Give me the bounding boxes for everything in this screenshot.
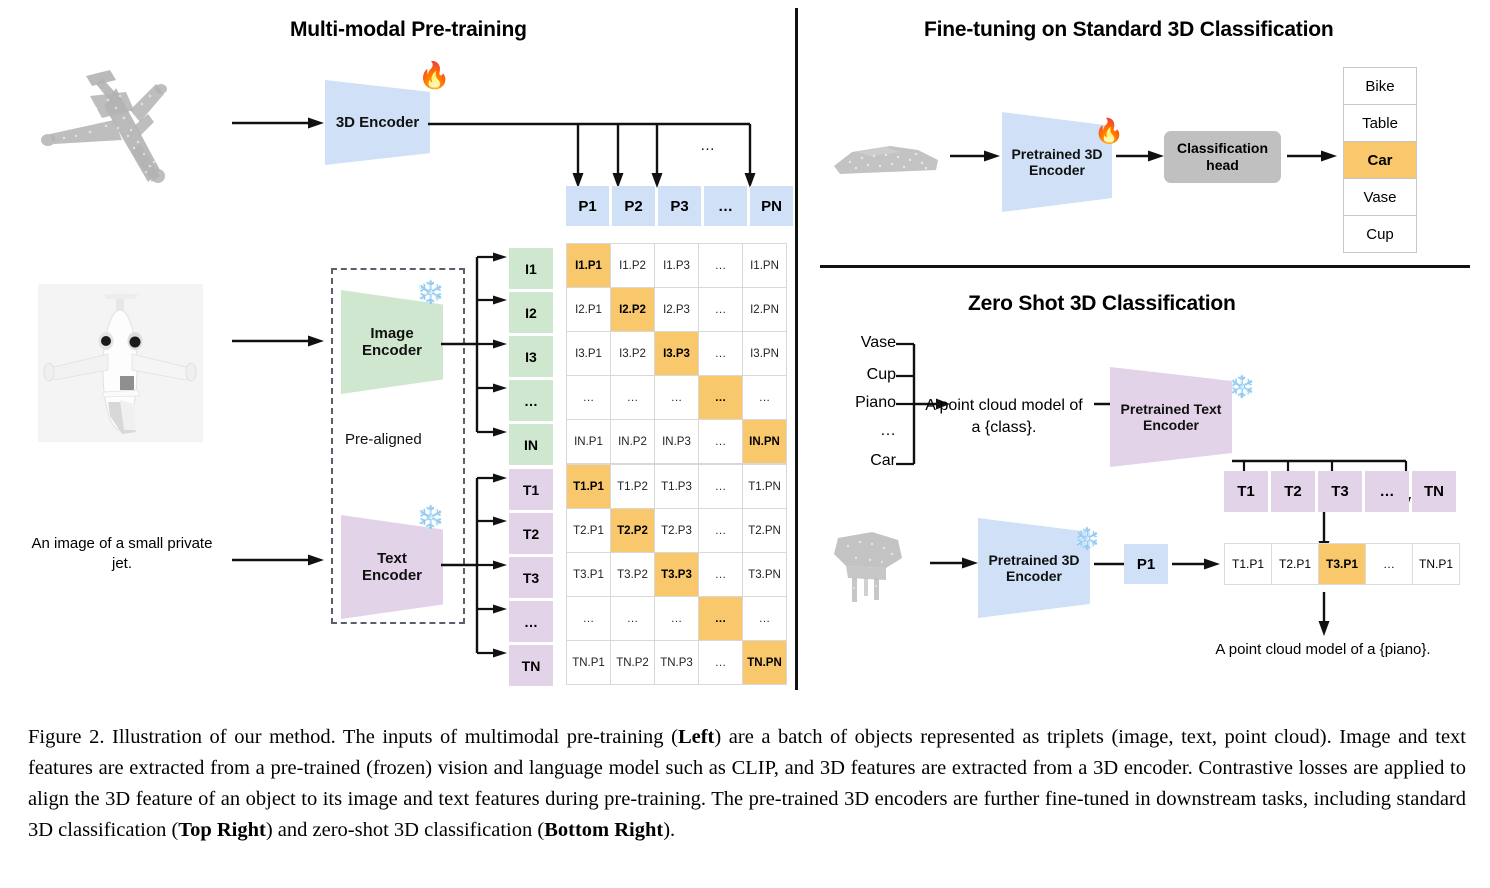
point-feature-cell: P1 bbox=[566, 186, 609, 226]
zeroshot-encoder-l1: Pretrained 3D bbox=[988, 552, 1079, 568]
fanout-textencoder-to-text-features bbox=[441, 473, 509, 658]
image-encoder-label-l1: Image bbox=[370, 325, 413, 342]
classification-head-block: Classification head bbox=[1164, 131, 1281, 183]
zeroshot-text-feature-cell: T1 bbox=[1224, 471, 1268, 512]
matrix-cell: I2.PN bbox=[743, 288, 786, 331]
matrix-cell: TN.PN bbox=[743, 641, 786, 684]
zeroshot-prompt-l2: a {class}. bbox=[972, 419, 1037, 436]
matrix-cell: I2.P3 bbox=[655, 288, 698, 331]
matrix-cell: … bbox=[743, 376, 786, 419]
arrow-p1-to-scores bbox=[1172, 556, 1220, 572]
snowflake-icon-textencoder-zeroshot: ❄️ bbox=[1228, 376, 1255, 398]
arrow-image-to-imageencoder bbox=[232, 333, 324, 349]
horizontal-divider bbox=[820, 265, 1470, 268]
zeroshot-text-feature-cell: TN bbox=[1412, 471, 1456, 512]
input-text-caption: An image of a small private jet. bbox=[28, 534, 216, 575]
matrix-cell: … bbox=[699, 376, 742, 419]
class-list-item[interactable]: Bike bbox=[1344, 68, 1416, 105]
image-point-similarity-matrix: I1.P1I1.P2I1.P3…I1.PNI2.P1I2.P2I2.P3…I2.… bbox=[566, 243, 787, 464]
caption-bold-topright: Top Right bbox=[178, 819, 266, 841]
matrix-cell: TN.P2 bbox=[611, 641, 654, 684]
zeroshot-encoder-l2: Encoder bbox=[1006, 568, 1062, 584]
feature-cell: I2 bbox=[509, 292, 553, 333]
zeroshot-text-feature-cell: … bbox=[1365, 471, 1409, 512]
matrix-cell: I1.P1 bbox=[567, 244, 610, 287]
matrix-cell: … bbox=[699, 332, 742, 375]
zeroshot-text-feature-row: T1T2T3…TN bbox=[1224, 471, 1456, 512]
feature-cell: T3 bbox=[509, 557, 553, 598]
matrix-cell: I3.P1 bbox=[567, 332, 610, 375]
topright-encoder-label: Pretrained 3D Encoder bbox=[1011, 146, 1102, 178]
feature-cell: T2 bbox=[509, 513, 553, 554]
zeroshot-class-name: Cup bbox=[826, 366, 896, 384]
matrix-cell: I2.P2 bbox=[611, 288, 654, 331]
point-feature-cell: PN bbox=[750, 186, 793, 226]
left-panel-title: Multi-modal Pre-training bbox=[290, 18, 527, 42]
text-point-similarity-matrix: T1.P1T1.P2T1.P3…T1.PNT2.P1T2.P2T2.P3…T2.… bbox=[566, 464, 787, 685]
arrow-scores-to-result bbox=[1316, 592, 1332, 636]
matrix-cell: … bbox=[699, 288, 742, 331]
text-encoder-label-l1: Text bbox=[377, 550, 407, 567]
bottomright-panel-title: Zero Shot 3D Classification bbox=[968, 292, 1236, 316]
zeroshot-score-cell: T3.P1 bbox=[1319, 544, 1365, 584]
matrix-cell: I1.P3 bbox=[655, 244, 698, 287]
text-encoder-label-l2: Encoder bbox=[362, 567, 422, 584]
matrix-cell: IN.PN bbox=[743, 420, 786, 463]
pretrained-text-encoder-label: Pretrained Text Encoder bbox=[1121, 401, 1222, 433]
matrix-cell: I3.P3 bbox=[655, 332, 698, 375]
classification-head-l1: Classification bbox=[1177, 140, 1268, 156]
matrix-cell: T2.P2 bbox=[611, 509, 654, 552]
encoder-3d-block: 3D Encoder bbox=[325, 80, 430, 165]
pretrained-text-encoder-block: Pretrained Text Encoder bbox=[1110, 367, 1232, 467]
feature-cell: IN bbox=[509, 424, 553, 465]
matrix-cell: … bbox=[655, 376, 698, 419]
matrix-cell: IN.P2 bbox=[611, 420, 654, 463]
matrix-cell: I3.PN bbox=[743, 332, 786, 375]
input-text-caption-value: An image of a small private jet. bbox=[32, 535, 213, 572]
matrix-cell: … bbox=[699, 509, 742, 552]
zeroshot-point-feature-label: P1 bbox=[1137, 556, 1155, 573]
zeroshot-prompt-l1: A point cloud model of bbox=[925, 397, 1082, 414]
matrix-cell: … bbox=[699, 465, 742, 508]
feature-cell: I1 bbox=[509, 248, 553, 289]
arrow-head-to-classlist bbox=[1287, 148, 1337, 164]
matrix-cell: T1.P3 bbox=[655, 465, 698, 508]
zeroshot-class-name: Vase bbox=[826, 334, 896, 352]
snowflake-icon-3dencoder-zeroshot: ❄️ bbox=[1073, 528, 1100, 550]
text-encoder-label: Text Encoder bbox=[362, 550, 422, 585]
fanout-imageencoder-to-image-features bbox=[441, 252, 509, 437]
zeroshot-score-cell: T1.P1 bbox=[1225, 544, 1271, 584]
image-encoder-label: Image Encoder bbox=[362, 325, 422, 360]
figure-caption: Figure 2. Illustration of our method. Th… bbox=[28, 722, 1466, 847]
airplane-point-cloud bbox=[30, 48, 230, 208]
pretrained-text-encoder-l1: Pretrained Text bbox=[1121, 401, 1222, 417]
zeroshot-class-name-list: VaseCupPiano…Car bbox=[826, 334, 896, 474]
zeroshot-text-feature-cell: T3 bbox=[1318, 471, 1362, 512]
matrix-cell: T1.PN bbox=[743, 465, 786, 508]
text-encoder-block: Text Encoder bbox=[341, 515, 443, 619]
point-feature-cell: … bbox=[704, 186, 747, 226]
matrix-cell: … bbox=[567, 597, 610, 640]
text-feature-column: T1T2T3…TN bbox=[509, 469, 553, 686]
topright-encoder-label-l2: Encoder bbox=[1029, 162, 1085, 178]
feature-cell: I3 bbox=[509, 336, 553, 377]
matrix-cell: … bbox=[699, 553, 742, 596]
feature-cell: TN bbox=[509, 645, 553, 686]
zeroshot-score-row: T1.P1T2.P1T3.P1…TN.P1 bbox=[1224, 543, 1460, 585]
topright-encoder-label-l1: Pretrained 3D bbox=[1011, 146, 1102, 162]
zeroshot-score-cell: … bbox=[1366, 544, 1412, 584]
matrix-cell: … bbox=[611, 597, 654, 640]
encoder-3d-label: 3D Encoder bbox=[336, 114, 419, 131]
matrix-cell: TN.P1 bbox=[567, 641, 610, 684]
topright-panel-title: Fine-tuning on Standard 3D Classificatio… bbox=[924, 18, 1334, 42]
zeroshot-class-name: Car bbox=[826, 452, 896, 470]
matrix-cell: T2.P1 bbox=[567, 509, 610, 552]
caption-part-4: ). bbox=[663, 819, 675, 841]
matrix-cell: … bbox=[699, 641, 742, 684]
fire-icon-3dencoder: 🔥 bbox=[418, 62, 450, 88]
class-list-item[interactable]: Cup bbox=[1344, 216, 1416, 252]
image-feature-column: I1I2I3…IN bbox=[509, 248, 553, 465]
pretrained-text-encoder-l2: Encoder bbox=[1143, 417, 1199, 433]
zeroshot-encoder-label: Pretrained 3D Encoder bbox=[988, 552, 1079, 584]
classification-class-list[interactable]: BikeTableCarVaseCup bbox=[1343, 67, 1417, 253]
vertical-divider bbox=[795, 8, 798, 690]
feature-cell: … bbox=[509, 601, 553, 642]
fire-icon-topright: 🔥 bbox=[1094, 120, 1124, 144]
matrix-cell: T3.P3 bbox=[655, 553, 698, 596]
caption-part-1: Figure 2. Illustration of our method. Th… bbox=[28, 726, 678, 748]
point-feature-row: P1P2P3…PN bbox=[566, 186, 793, 226]
matrix-cell: … bbox=[611, 376, 654, 419]
zeroshot-result-text: A point cloud model of a {piano}. bbox=[1178, 640, 1468, 660]
zeroshot-class-name: … bbox=[826, 422, 896, 440]
matrix-cell: … bbox=[699, 244, 742, 287]
matrix-cell: T3.P1 bbox=[567, 553, 610, 596]
caption-bold-left: Left bbox=[678, 726, 714, 748]
zeroshot-score-cell: TN.P1 bbox=[1413, 544, 1459, 584]
matrix-cell: T2.P3 bbox=[655, 509, 698, 552]
matrix-cell: IN.P3 bbox=[655, 420, 698, 463]
point-feature-cell: P3 bbox=[658, 186, 701, 226]
matrix-cell: … bbox=[655, 597, 698, 640]
feature-cell: T1 bbox=[509, 469, 553, 510]
private-jet-render bbox=[38, 284, 203, 442]
car-point-cloud bbox=[826, 132, 946, 184]
matrix-cell: T1.P2 bbox=[611, 465, 654, 508]
arrow-pointcloud-to-3dencoder bbox=[232, 115, 324, 131]
point-feature-cell: P2 bbox=[612, 186, 655, 226]
matrix-cell: T2.PN bbox=[743, 509, 786, 552]
matrix-cell: T3.PN bbox=[743, 553, 786, 596]
caption-bold-bottomright: Bottom Right bbox=[544, 819, 663, 841]
zeroshot-class-name: Piano bbox=[826, 394, 896, 412]
image-encoder-label-l2: Encoder bbox=[362, 342, 422, 359]
zeroshot-text-feature-cell: T2 bbox=[1271, 471, 1315, 512]
arrow-text-to-textencoder bbox=[232, 552, 324, 568]
matrix-cell: I1.P2 bbox=[611, 244, 654, 287]
class-list-item[interactable]: Car bbox=[1344, 142, 1416, 179]
image-encoder-block: Image Encoder bbox=[341, 290, 443, 394]
matrix-cell: T3.P2 bbox=[611, 553, 654, 596]
matrix-cell: … bbox=[699, 420, 742, 463]
caption-part-3: ) and zero-shot 3D classification ( bbox=[266, 819, 544, 841]
zeroshot-prompt-template: A point cloud model of a {class}. bbox=[910, 395, 1098, 438]
svg-text:…: … bbox=[700, 137, 715, 154]
piano-point-cloud bbox=[828, 524, 924, 606]
matrix-cell: IN.P1 bbox=[567, 420, 610, 463]
feature-cell: … bbox=[509, 380, 553, 421]
matrix-cell: … bbox=[567, 376, 610, 419]
matrix-cell: … bbox=[743, 597, 786, 640]
matrix-cell: I1.PN bbox=[743, 244, 786, 287]
arrow-encoder-to-classification-head bbox=[1116, 148, 1164, 164]
zeroshot-score-cell: T2.P1 bbox=[1272, 544, 1318, 584]
figure-root: Multi-modal Pre-training Fine-tuning on … bbox=[0, 0, 1490, 888]
matrix-cell: I3.P2 bbox=[611, 332, 654, 375]
prealigned-label: Pre-aligned bbox=[345, 431, 422, 448]
arrow-car-to-pretrained3d bbox=[950, 148, 1000, 164]
bus-3dencoder-to-point-features: … bbox=[428, 118, 758, 190]
matrix-cell: T1.P1 bbox=[567, 465, 610, 508]
matrix-cell: TN.P3 bbox=[655, 641, 698, 684]
classification-head-l2: head bbox=[1206, 157, 1239, 173]
class-list-item[interactable]: Table bbox=[1344, 105, 1416, 142]
classification-head-label: Classification head bbox=[1177, 140, 1268, 174]
matrix-cell: … bbox=[699, 597, 742, 640]
zeroshot-point-feature-box: P1 bbox=[1124, 544, 1168, 584]
matrix-cell: I2.P1 bbox=[567, 288, 610, 331]
class-list-item[interactable]: Vase bbox=[1344, 179, 1416, 216]
arrow-piano-to-pretrained3d bbox=[930, 555, 978, 571]
